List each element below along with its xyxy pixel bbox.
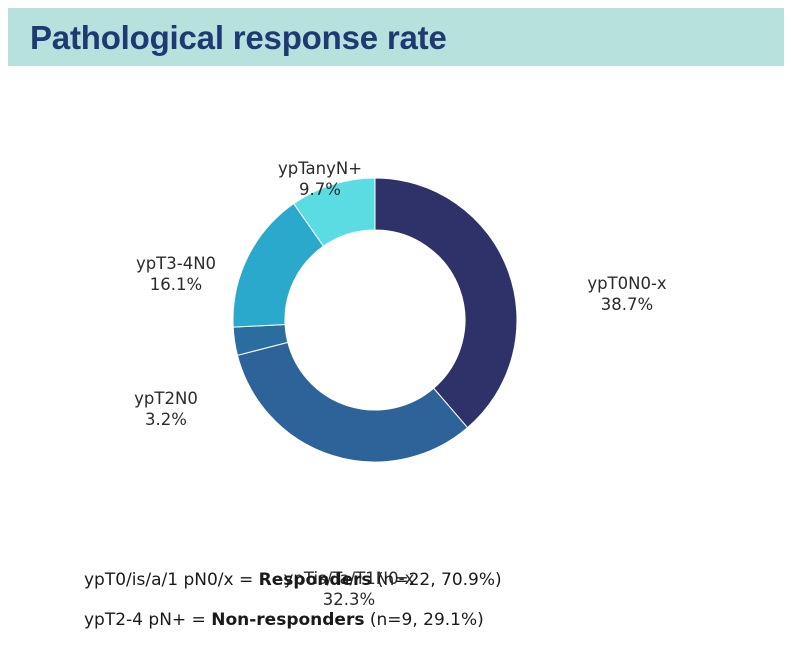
- footnote-block: ypT0/is/a/1 pN0/x = Responders (n=22, 70…: [84, 560, 744, 640]
- donut-slice-1: [375, 178, 517, 428]
- slice-label-name: ypT3-4N0: [88, 253, 264, 274]
- footnote-prefix: ypT0/is/a/1 pN0/x =: [84, 570, 259, 590]
- title-band: Pathological response rate: [8, 8, 784, 66]
- slice-label-name: ypTanyN+: [232, 158, 408, 179]
- donut-slice-group: [233, 178, 517, 462]
- footnote-non-responders: ypT2-4 pN+ = Non-responders (n=9, 29.1%): [84, 600, 744, 640]
- page-title: Pathological response rate: [30, 18, 447, 58]
- slice-label-name: ypT2N0: [78, 388, 254, 409]
- footnote-responders: ypT0/is/a/1 pN0/x = Responders (n=22, 70…: [84, 560, 744, 600]
- slice-label-value: 9.7%: [232, 179, 408, 200]
- slice-label-value: 16.1%: [88, 274, 264, 295]
- slide-canvas: Pathological response rate ypTanyN+ 9.7%…: [0, 0, 791, 657]
- footnote-prefix: ypT2-4 pN+ =: [84, 610, 211, 630]
- slice-label-value: 38.7%: [532, 294, 722, 315]
- slice-label-ypt0n0: ypT0N0-x 38.7%: [532, 273, 722, 315]
- donut-slice-2: [237, 342, 467, 462]
- slice-label-value: 3.2%: [78, 409, 254, 430]
- slice-label-ypt2n0: ypT2N0 3.2%: [78, 388, 254, 430]
- footnote-emphasis: Responders: [259, 570, 372, 590]
- footnote-emphasis: Non-responders: [211, 610, 364, 630]
- slice-label-ypt34n0: ypT3-4N0 16.1%: [88, 253, 264, 295]
- donut-chart: ypTanyN+ 9.7% ypT3-4N0 16.1% ypT2N0 3.2%…: [0, 70, 791, 550]
- slice-label-name: ypT0N0-x: [532, 273, 722, 294]
- slice-label-yptanyn: ypTanyN+ 9.7%: [232, 158, 408, 200]
- footnote-suffix: (n=9, 29.1%): [364, 610, 483, 630]
- footnote-suffix: (n=22, 70.9%): [372, 570, 502, 590]
